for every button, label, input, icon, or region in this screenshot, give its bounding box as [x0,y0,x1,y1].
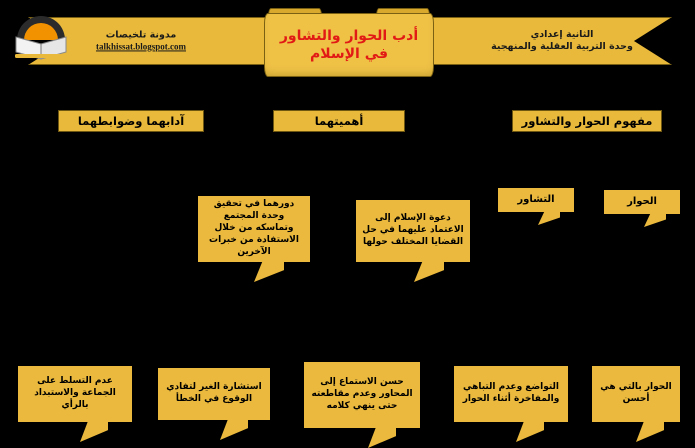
etiquette-bubble-good-listening[interactable]: حسن الاستماع إلى المحاور وعدم مقاطعته حت… [304,362,420,428]
bubble-tail [538,211,560,225]
importance-bubble-islam-call[interactable]: دعوة الإسلام إلى الاعتماد عليهما في حل ا… [356,200,470,262]
header-ribbon: مدونة تلخيصات talkhissat.blogspot.com ال… [0,0,695,92]
section-heading-adab[interactable]: آدابهما وضوابطهما [58,110,204,132]
bubble-tail [636,420,664,442]
etiquette-bubble-no-domination[interactable]: عدم التسلط على الجماعة والاستبداد بالرأي [18,366,132,422]
diagram-canvas: مدونة تلخيصات talkhissat.blogspot.com ال… [0,0,695,443]
bubble-label: حسن الاستماع إلى المحاور وعدم مقاطعته حت… [310,377,414,413]
bubble-label: عدم التسلط على الجماعة والاستبداد بالرأي [24,376,126,412]
bubble-label: التشاور [517,193,554,206]
bubble-tail [368,426,396,448]
bubble-tail [254,260,284,282]
bubble-label: دورهما في تحقيق وحدة المجتمع وتماسكه من … [204,199,304,258]
etiquette-bubble-humility[interactable]: التواضع وعدم التباهي والمفاخرة أثناء الح… [454,366,568,422]
grade-level: الثانية إعدادي [452,29,672,41]
open-book-icon [12,14,70,62]
etiquette-bubble-best-manner[interactable]: الحوار بالتي هي أحسن [592,366,680,422]
course-meta: الثانية إعدادي وحدة التربية العقلية والم… [400,29,672,53]
ribbon-right-wing: الثانية إعدادي وحدة التربية العقلية والم… [400,17,672,65]
bubble-tail [644,213,666,227]
etiquette-bubble-consult-others[interactable]: استشارة الغير لتفادي الوقوع في الخطأ [158,368,270,420]
bubble-label: الحوار بالتي هي أحسن [598,382,674,406]
importance-bubble-role-unity[interactable]: دورهما في تحقيق وحدة المجتمع وتماسكه من … [198,196,310,262]
page-title: أدب الحوار والتشاور في الإسلام [265,27,433,63]
bubble-label: دعوة الإسلام إلى الاعتماد عليهما في حل ا… [362,213,464,249]
bubble-label: الحوار [627,195,657,208]
bubble-label: استشارة الغير لتفادي الوقوع في الخطأ [164,382,264,406]
title-plaque: أدب الحوار والتشاور في الإسلام [264,13,434,77]
bubble-tail [414,260,444,282]
bubble-tail [220,418,248,440]
section-heading-ahamiya[interactable]: أهميتهما [273,110,405,132]
concept-bubble-hiwar[interactable]: الحوار [604,190,680,214]
section-heading-mafhoum[interactable]: مفهوم الحوار والتشاور [512,110,662,132]
bubble-tail [80,420,108,442]
concept-bubble-tashawur[interactable]: التشاور [498,188,574,212]
unit-name: وحدة التربية العقلية والمنهجية [452,41,672,53]
bubble-tail [516,420,544,442]
bubble-label: التواضع وعدم التباهي والمفاخرة أثناء الح… [460,382,562,406]
